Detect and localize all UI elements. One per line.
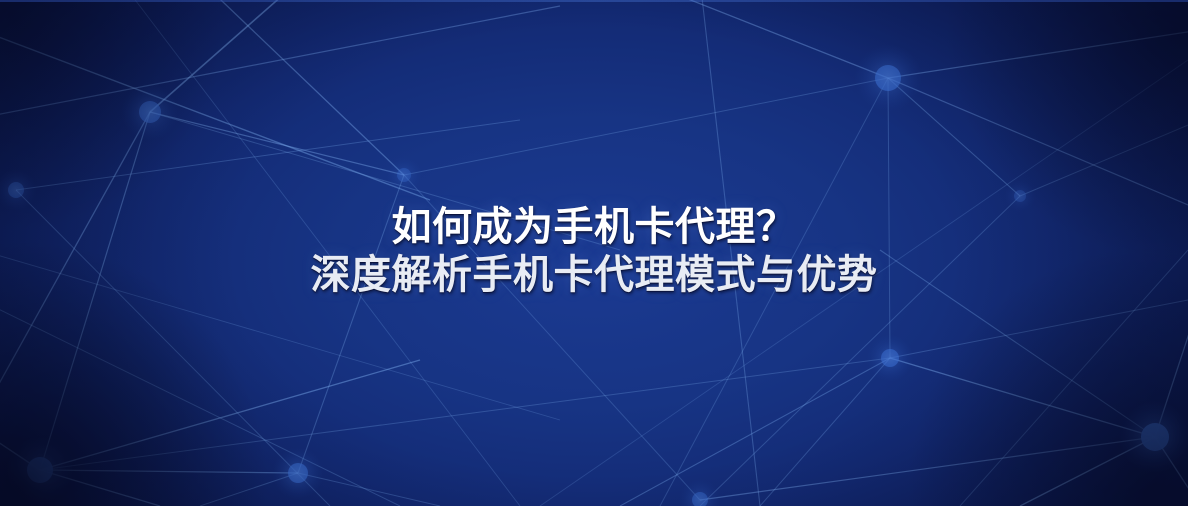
top-divider xyxy=(0,0,1188,2)
title-line-secondary: 深度解析手机卡代理模式与优势 xyxy=(0,251,1188,299)
title-line-primary: 如何成为手机卡代理？ xyxy=(0,203,1188,251)
hero-banner: 如何成为手机卡代理？ 深度解析手机卡代理模式与优势 xyxy=(0,0,1188,506)
banner-title: 如何成为手机卡代理？ 深度解析手机卡代理模式与优势 xyxy=(0,203,1188,299)
